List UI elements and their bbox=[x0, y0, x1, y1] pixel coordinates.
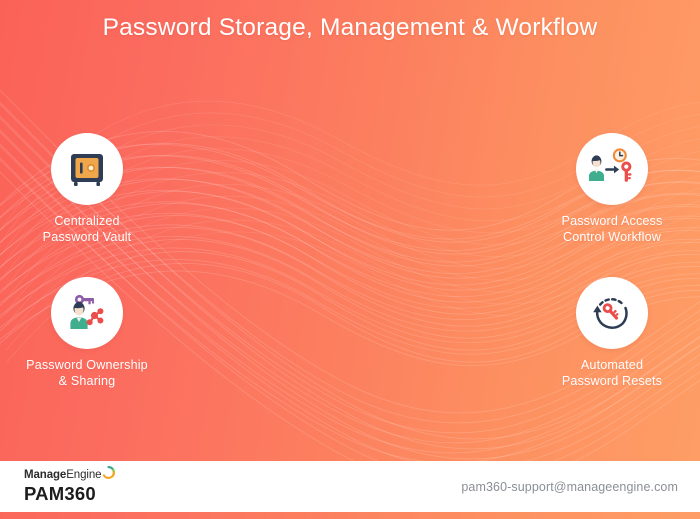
slide-root: Password Storage, Management & Workflow … bbox=[0, 0, 700, 519]
feature-password-ownership-sharing[interactable]: Password Ownership & Sharing bbox=[0, 277, 177, 389]
icon-bubble bbox=[576, 277, 648, 349]
key-glyph bbox=[621, 162, 631, 182]
feature-label: Password Access Control Workflow bbox=[522, 214, 700, 245]
icon-bubble bbox=[51, 133, 123, 205]
brand-logo[interactable]: Manage Engine PAM360 bbox=[24, 470, 115, 503]
user-key-share-icon bbox=[65, 291, 109, 335]
manageengine-swoosh-icon bbox=[102, 466, 115, 479]
feature-label: Automated Password Resets bbox=[522, 358, 700, 389]
page-title: Password Storage, Management & Workflow bbox=[0, 14, 700, 42]
arrow-glyph bbox=[605, 166, 619, 174]
safe-vault-icon bbox=[65, 147, 109, 191]
brand-wordmark: Manage Engine bbox=[24, 470, 115, 482]
footer-bar: Manage Engine PAM360 pam360-support@mana… bbox=[0, 461, 700, 512]
key-glyph bbox=[601, 301, 621, 322]
icon-bubble bbox=[51, 277, 123, 349]
brand-engine-text: Engine bbox=[66, 470, 101, 482]
feature-label: Centralized Password Vault bbox=[0, 214, 177, 245]
brand-manage-text: Manage bbox=[24, 470, 66, 482]
product-name: PAM360 bbox=[24, 485, 115, 504]
clock-glyph bbox=[613, 148, 627, 162]
support-email[interactable]: pam360-support@manageengine.com bbox=[461, 480, 678, 494]
person-glyph bbox=[70, 302, 87, 329]
person-glyph bbox=[589, 155, 604, 181]
feature-password-access-control-workflow[interactable]: Password Access Control Workflow bbox=[522, 133, 700, 245]
background-wave-pattern bbox=[0, 0, 700, 519]
feature-centralized-password-vault[interactable]: Centralized Password Vault bbox=[0, 133, 177, 245]
feature-label: Password Ownership & Sharing bbox=[0, 358, 177, 389]
share-nodes-glyph bbox=[87, 308, 104, 325]
icon-bubble bbox=[576, 133, 648, 205]
feature-automated-password-resets[interactable]: Automated Password Resets bbox=[522, 277, 700, 389]
user-arrow-key-clock-icon bbox=[589, 148, 635, 190]
refresh-key-icon bbox=[590, 291, 634, 335]
